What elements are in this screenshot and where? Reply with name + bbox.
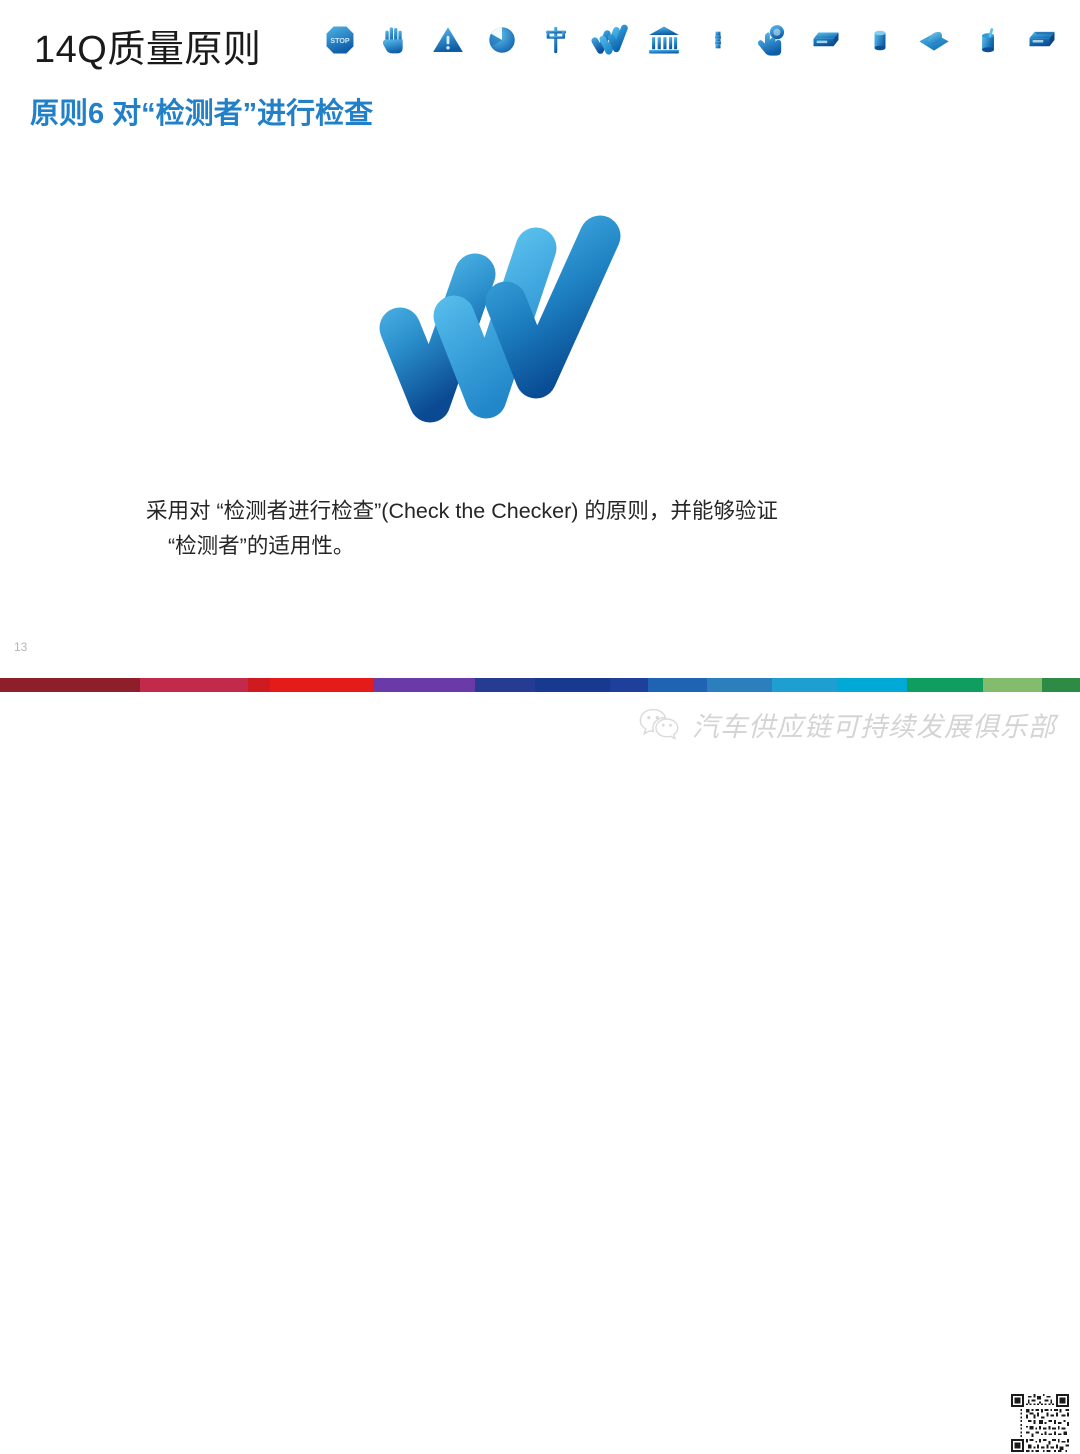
color-bar-segment-1 <box>140 678 248 692</box>
pie-chart-sphere-icon[interactable] <box>478 16 526 64</box>
stop-sign-icon[interactable]: STOP <box>316 16 364 64</box>
color-bar-segment-6 <box>535 678 611 692</box>
color-bar-segment-7 <box>610 678 648 692</box>
sheet-roll-icon[interactable] <box>910 16 958 64</box>
svg-text:STOP: STOP <box>330 37 349 45</box>
body-line-2: “检测者”的适用性。 <box>146 529 906 564</box>
color-bar-segment-11 <box>837 678 907 692</box>
w-waves-logo-icon[interactable] <box>586 16 634 64</box>
footer-label: 汽车供应链可持续发展俱乐部 <box>692 705 1056 744</box>
open-tray-box-icon[interactable] <box>1018 16 1066 64</box>
color-bar-segment-4 <box>373 678 476 692</box>
wechat-icon <box>638 707 680 741</box>
body-line-1: 采用对 “检测者进行检查”(Check the Checker) 的原则，并能够… <box>146 499 778 523</box>
bank-building-icon[interactable] <box>640 16 688 64</box>
w-waves-logo <box>368 206 638 446</box>
caliper-gauge-icon[interactable] <box>532 16 580 64</box>
color-bar-segment-0 <box>0 678 140 692</box>
footer-color-bar <box>0 678 1080 692</box>
warning-triangle-icon[interactable] <box>424 16 472 64</box>
page-subtitle: 原则6 对“检测者”进行检查 <box>30 90 373 132</box>
color-bar-segment-13 <box>983 678 1042 692</box>
container-with-tool-icon[interactable] <box>964 16 1012 64</box>
hand-press-button-icon[interactable] <box>748 16 796 64</box>
footer-bar: 汽车供应链可持续发展俱乐部 <box>0 692 1080 764</box>
color-bar-segment-12 <box>907 678 983 692</box>
color-bar-segment-14 <box>1042 678 1080 692</box>
color-bar-segment-3 <box>270 678 373 692</box>
bolt-pin-icon[interactable] <box>694 16 742 64</box>
color-bar-segment-9 <box>707 678 772 692</box>
principle-icon-strip: STOP <box>316 14 1066 66</box>
page-number: 13 <box>14 640 27 654</box>
color-bar-segment-2 <box>248 678 270 692</box>
qr-code[interactable] <box>1008 1392 1072 1454</box>
cylinder-part-icon[interactable] <box>856 16 904 64</box>
slide-canvas: 14Q质量原则 原则6 对“检测者”进行检查 STOP <box>0 0 1080 764</box>
color-bar-segment-5 <box>475 678 534 692</box>
raised-hand-icon[interactable] <box>370 16 418 64</box>
color-bar-segment-8 <box>648 678 707 692</box>
footer-brand: 汽车供应链可持续发展俱乐部 <box>638 698 1056 750</box>
metal-block-box-icon[interactable] <box>802 16 850 64</box>
page-title: 14Q质量原则 <box>34 18 261 73</box>
body-paragraph: 采用对 “检测者进行检查”(Check the Checker) 的原则，并能够… <box>146 494 906 564</box>
color-bar-segment-10 <box>772 678 837 692</box>
